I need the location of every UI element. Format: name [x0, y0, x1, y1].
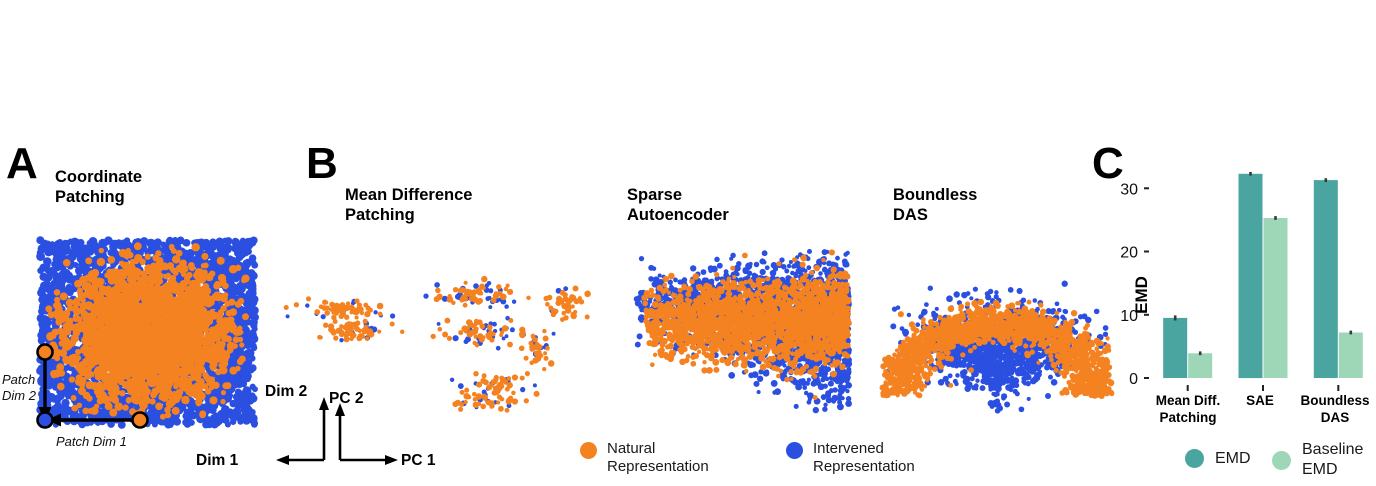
panel-b1-title-line1: Mean Difference — [345, 185, 535, 205]
panel-letter-b: B — [306, 142, 337, 186]
legend-natural-swatch — [580, 442, 597, 459]
scatter-legend-item-intervened: Intervened Representation — [786, 440, 915, 477]
panel-a-axis-y-label: Dim 2 — [265, 383, 307, 401]
bar-legend-item-emd: EMD — [1185, 449, 1251, 469]
bar-chart-x-tick-labels: Mean Diff. Patching SAE Boundless DAS — [1150, 393, 1376, 427]
x-tick-label-mean-diff-patching: Mean Diff. Patching — [1150, 393, 1226, 427]
panel-b3-scatter — [880, 248, 1115, 413]
patch-dim-1-label: Patch Dim 1 — [56, 434, 127, 450]
patch-dim-2-label-word1: Patch — [2, 372, 36, 388]
panel-b-axis-indicator — [330, 398, 408, 466]
panel-a-title-line2: Patching — [55, 187, 215, 207]
x-tick-label-sae: SAE — [1226, 393, 1294, 427]
panel-letter-c: C — [1092, 142, 1123, 186]
bar-legend-item-baseline-emd: Baseline EMD — [1272, 440, 1363, 479]
patch-dim-2-label: Patch Dim 2 Patch Dim 2 — [2, 372, 36, 403]
bar-legend-baseline-emd-label: Baseline EMD — [1302, 440, 1363, 479]
legend-intervened-swatch — [786, 442, 803, 459]
panel-b1-title-line2: Patching — [345, 205, 535, 225]
bar-legend-emd-swatch — [1185, 449, 1204, 468]
panel-b3-title-line2: DAS — [893, 205, 1053, 225]
panel-a-axis-x-label: Dim 1 — [196, 452, 238, 470]
legend-intervened-label: Intervened Representation — [813, 440, 915, 477]
x-tick-label-boundless-das: Boundless DAS — [1294, 393, 1376, 427]
panel-a-title-line1: Coordinate — [55, 167, 215, 187]
panel-b3-title: Boundless DAS — [893, 185, 1053, 225]
panel-b-axis-x-label: PC 1 — [401, 452, 435, 470]
panel-b3-title-line1: Boundless — [893, 185, 1053, 205]
panel-b1-title: Mean Difference Patching — [345, 185, 535, 225]
panel-b2-title-line1: Sparse — [627, 185, 807, 205]
panel-b1-scatter — [330, 245, 600, 420]
panel-b2-title: Sparse Autoencoder — [627, 185, 807, 225]
bar-legend-emd-label: EMD — [1215, 449, 1251, 469]
panel-letter-a: A — [6, 142, 37, 186]
bar-legend-baseline-emd-swatch — [1272, 451, 1291, 470]
panel-b2-title-line2: Autoencoder — [627, 205, 807, 225]
scatter-legend-item-natural: Natural Representation — [580, 440, 709, 477]
panel-a-patch-annotations — [28, 340, 158, 435]
panel-b2-scatter — [614, 248, 874, 413]
panel-a-title: Coordinate Patching — [55, 167, 215, 207]
panel-b-axis-y-label: PC 2 — [329, 390, 363, 408]
patch-dim-2-label-word2: Dim 2 — [2, 388, 36, 404]
legend-natural-label: Natural Representation — [607, 440, 709, 477]
